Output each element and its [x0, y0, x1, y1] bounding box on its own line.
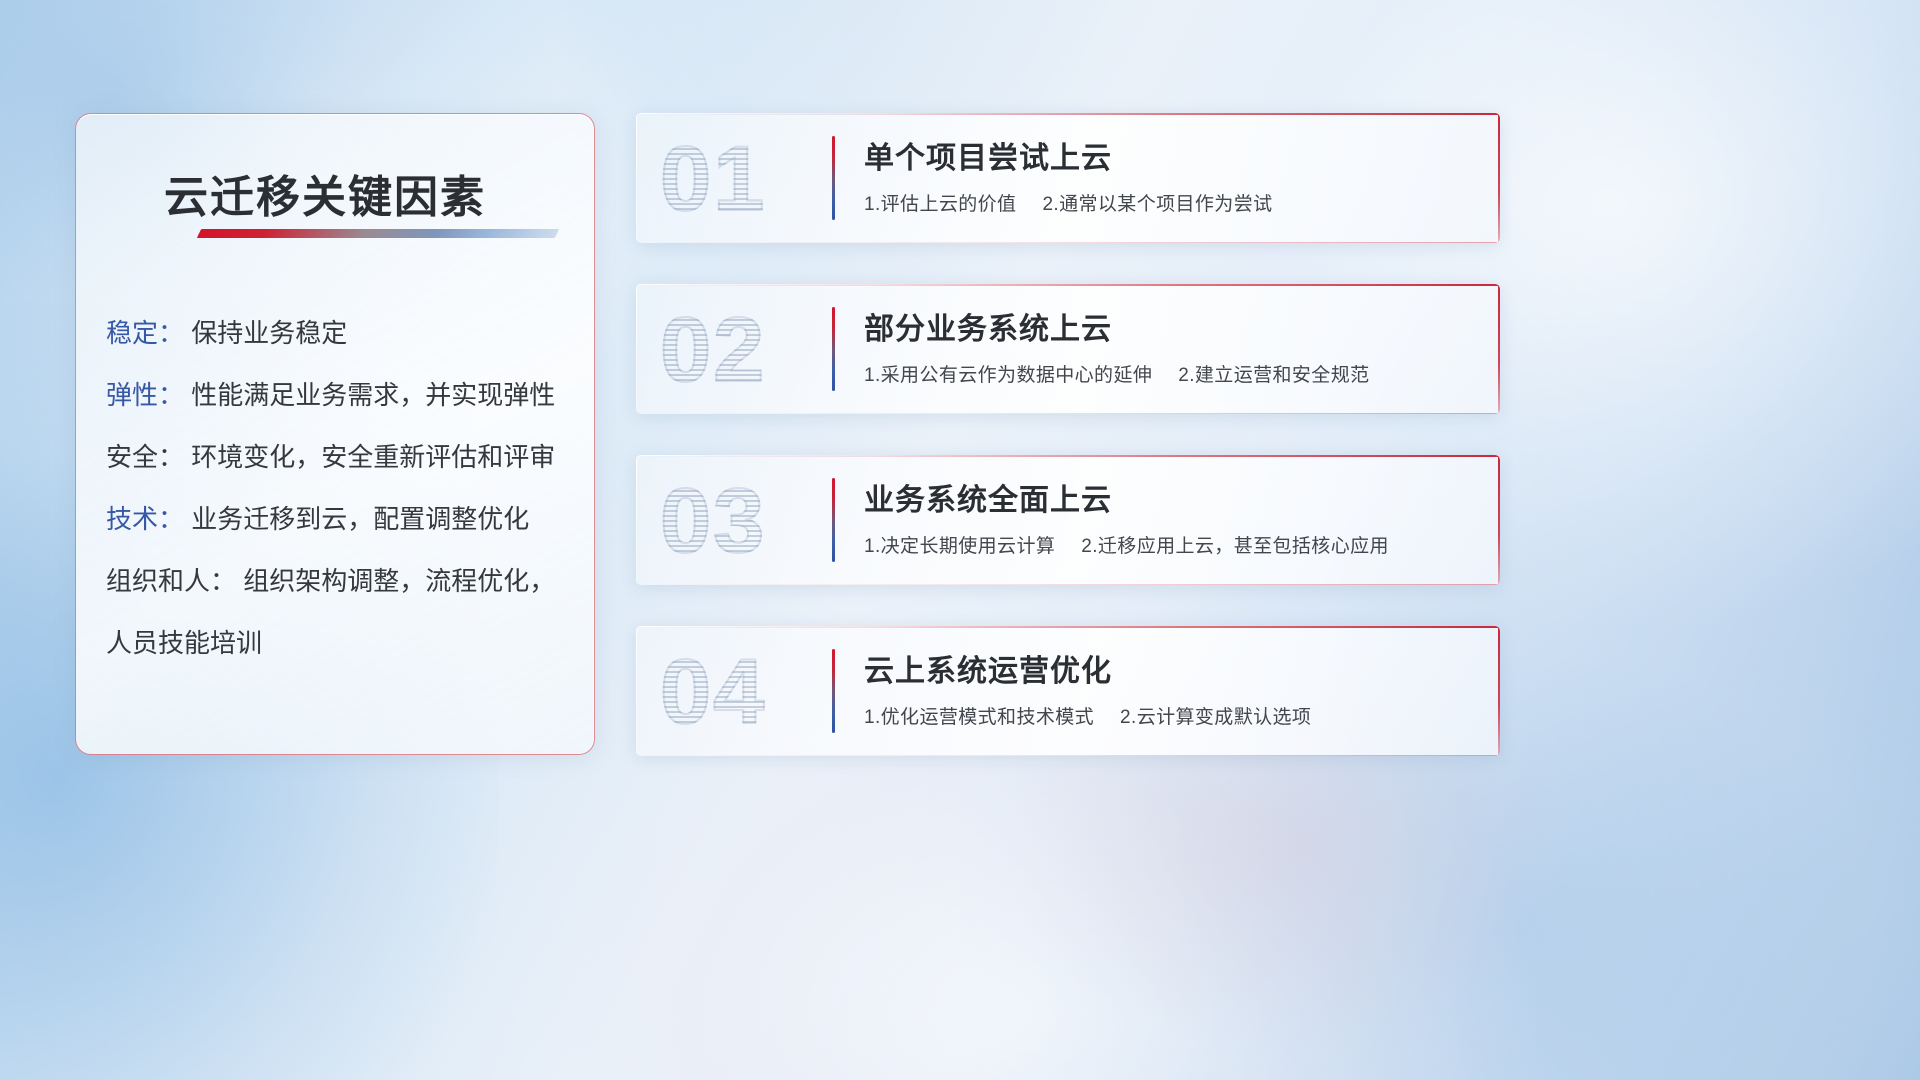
stage-title: 部分业务系统上云: [864, 304, 1112, 348]
stage-title: 云上系统运营优化: [864, 646, 1112, 690]
stage-points: 1.评估上云的价值2.通常以某个项目作为尝试: [864, 189, 1273, 216]
stage-card-02[interactable]: 02部分业务系统上云1.采用公有云作为数据中心的延伸2.建立运营和安全规范: [636, 284, 1500, 414]
migration-stage-list: 01单个项目尝试上云1.评估上云的价值2.通常以某个项目作为尝试02部分业务系统…: [636, 113, 1500, 797]
card-bottom-accent: [636, 584, 1500, 585]
card-right-accent: [1498, 626, 1500, 756]
page-title: 云迁移关键因素: [164, 161, 486, 225]
stage-point-2: 2.建立运营和安全规范: [1178, 365, 1369, 386]
card-right-accent: [1498, 284, 1500, 414]
stage-card-03[interactable]: 03业务系统全面上云1.决定长期使用云计算2.迁移应用上云，甚至包括核心应用: [636, 455, 1500, 585]
card-bottom-accent: [636, 242, 1500, 243]
card-right-accent: [1498, 455, 1500, 585]
stage-point-2: 2.云计算变成默认选项: [1120, 707, 1311, 728]
stage-accent-bar: [832, 307, 835, 391]
card-top-accent: [636, 455, 1500, 457]
card-top-accent: [636, 284, 1500, 286]
card-left-edge: [636, 113, 637, 243]
factor-row: 组织和人： 组织架构调整，流程优化，: [106, 550, 570, 612]
factor-text: 环境变化，安全重新评估和评审: [191, 442, 555, 472]
stage-number-watermark: 01: [660, 123, 820, 235]
title-underline-accent: [197, 229, 559, 238]
factor-row: 技术： 业务迁移到云，配置调整优化: [106, 488, 570, 550]
factor-row: 稳定： 保持业务稳定: [106, 302, 570, 364]
stage-accent-bar: [832, 478, 835, 562]
factor-text: 性能满足业务需求，并实现弹性: [191, 380, 555, 410]
stage-card-01[interactable]: 01单个项目尝试上云1.评估上云的价值2.通常以某个项目作为尝试: [636, 113, 1500, 243]
stage-accent-bar: [832, 136, 835, 220]
stage-point-1: 1.决定长期使用云计算: [864, 536, 1055, 557]
stage-points: 1.决定长期使用云计算2.迁移应用上云，甚至包括核心应用: [864, 531, 1389, 558]
stage-point-1: 1.采用公有云作为数据中心的延伸: [864, 365, 1152, 386]
card-left-edge: [636, 284, 637, 414]
factor-row: 人员技能培训: [106, 612, 570, 674]
factor-label: 安全：: [106, 442, 184, 472]
stage-number-watermark: 04: [660, 636, 820, 748]
card-top-accent: [636, 113, 1500, 115]
stage-points: 1.优化运营模式和技术模式2.云计算变成默认选项: [864, 702, 1311, 729]
factor-label: 技术：: [106, 504, 184, 534]
card-left-edge: [636, 626, 637, 756]
stage-points: 1.采用公有云作为数据中心的延伸2.建立运营和安全规范: [864, 360, 1370, 387]
factor-text: 组织架构调整，流程优化，: [243, 566, 555, 596]
key-factors-panel: 云迁移关键因素 稳定： 保持业务稳定弹性： 性能满足业务需求，并实现弹性安全： …: [75, 113, 595, 755]
stage-accent-bar: [832, 649, 835, 733]
card-right-accent: [1498, 113, 1500, 243]
card-bottom-accent: [636, 413, 1500, 414]
card-top-accent: [636, 626, 1500, 628]
stage-point-2: 2.通常以某个项目作为尝试: [1042, 194, 1272, 215]
stage-point-1: 1.评估上云的价值: [864, 194, 1016, 215]
stage-card-04[interactable]: 04云上系统运营优化1.优化运营模式和技术模式2.云计算变成默认选项: [636, 626, 1500, 756]
factor-row: 安全： 环境变化，安全重新评估和评审: [106, 426, 570, 488]
stage-point-2: 2.迁移应用上云，甚至包括核心应用: [1081, 536, 1389, 557]
factor-text: 保持业务稳定: [191, 318, 347, 348]
factor-label: 组织和人：: [106, 566, 236, 596]
card-left-edge: [636, 455, 637, 585]
stage-point-1: 1.优化运营模式和技术模式: [864, 707, 1094, 728]
factor-row: 弹性： 性能满足业务需求，并实现弹性: [106, 364, 570, 426]
factor-label: 弹性：: [106, 380, 184, 410]
stage-number-watermark: 02: [660, 294, 820, 406]
factor-label: 稳定：: [106, 318, 184, 348]
factor-list: 稳定： 保持业务稳定弹性： 性能满足业务需求，并实现弹性安全： 环境变化，安全重…: [106, 302, 570, 674]
factor-text: 人员技能培训: [106, 628, 262, 658]
card-bottom-accent: [636, 755, 1500, 756]
stage-title: 业务系统全面上云: [864, 475, 1112, 519]
factor-text: 业务迁移到云，配置调整优化: [191, 504, 529, 534]
stage-title: 单个项目尝试上云: [864, 133, 1112, 177]
stage-number-watermark: 03: [660, 465, 820, 577]
